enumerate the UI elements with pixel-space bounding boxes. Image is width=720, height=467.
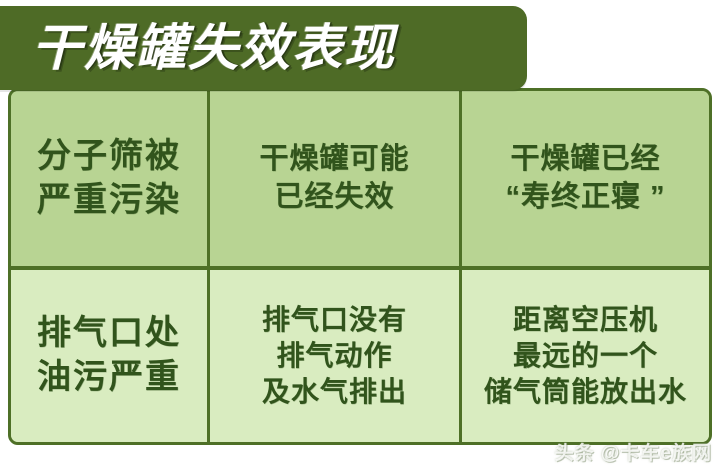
cell-text-r2c3: 距离空压机 最远的一个 储气筒能放出水 — [484, 302, 687, 409]
cell-text-r2c1: 排气口处 油污严重 — [37, 312, 181, 399]
cell-text-r1c2: 干燥罐可能 已经失效 — [259, 141, 409, 215]
cell-text-r1c3: 干燥罐已经 “寿终正寝 ” — [505, 141, 665, 215]
title-banner: 干燥罐失效表现 — [0, 6, 527, 90]
failure-symptoms-table: 分子筛被 严重污染 干燥罐可能 已经失效 干燥罐已经 “寿终正寝 ” 排气口处 … — [8, 88, 712, 445]
cell-text-r2c2: 排气口没有 排气动作 及水气排出 — [262, 302, 407, 409]
table-cell-r2c3: 距离空压机 最远的一个 储气筒能放出水 — [462, 270, 709, 442]
table-cell-r2c2: 排气口没有 排气动作 及水气排出 — [210, 270, 459, 442]
table-cell-r1c2: 干燥罐可能 已经失效 — [210, 91, 459, 266]
table-cell-r2c1: 排气口处 油污严重 — [11, 270, 207, 442]
infographic-root: 干燥罐失效表现 分子筛被 严重污染 干燥罐可能 已经失效 干燥罐已经 “寿终正寝… — [0, 0, 720, 467]
page-title: 干燥罐失效表现 — [32, 16, 512, 80]
table-cell-r1c3: 干燥罐已经 “寿终正寝 ” — [462, 91, 709, 266]
table-cell-r1c1: 分子筛被 严重污染 — [11, 91, 207, 266]
cell-text-r1c1: 分子筛被 严重污染 — [37, 135, 181, 222]
